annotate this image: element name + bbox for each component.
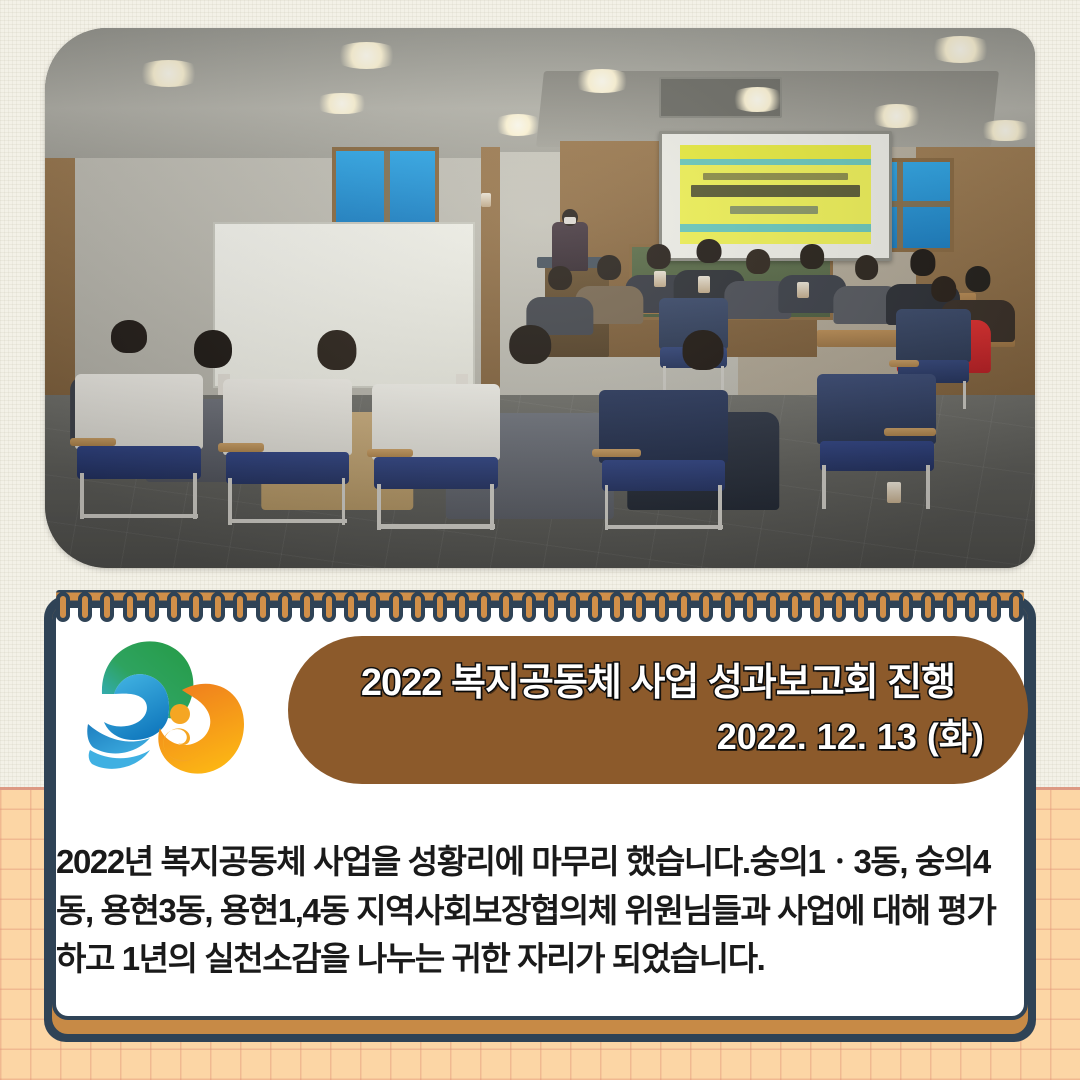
welfare-community-logo: [72, 628, 272, 808]
photo-color-grade: [45, 28, 1035, 568]
spiral-ring: [876, 592, 890, 622]
spiral-ring: [123, 592, 137, 622]
spiral-ring: [56, 592, 70, 622]
spiral-ring: [78, 592, 92, 622]
notepad-spiral-rings: [56, 592, 1024, 626]
spiral-ring: [522, 592, 536, 622]
spiral-ring: [566, 592, 580, 622]
spiral-ring: [211, 592, 225, 622]
event-date: 2022. 12. 13 (화): [332, 717, 984, 757]
spiral-ring: [943, 592, 957, 622]
spiral-ring: [743, 592, 757, 622]
spiral-ring: [256, 592, 270, 622]
spiral-ring: [832, 592, 846, 622]
spiral-ring: [300, 592, 314, 622]
spiral-ring: [544, 592, 558, 622]
spiral-ring: [499, 592, 513, 622]
spiral-ring: [766, 592, 780, 622]
spiral-ring: [344, 592, 358, 622]
spiral-ring: [699, 592, 713, 622]
body-paragraph: 2022년 복지공동체 사업을 성황리에 마무리 했습니다.숭의1ㆍ3동, 숭의…: [56, 838, 1024, 984]
spiral-ring: [721, 592, 735, 622]
spiral-ring: [987, 592, 1001, 622]
spiral-ring: [965, 592, 979, 622]
spiral-ring: [854, 592, 868, 622]
spiral-ring: [389, 592, 403, 622]
spiral-ring: [433, 592, 447, 622]
spiral-ring: [322, 592, 336, 622]
spiral-ring: [788, 592, 802, 622]
spiral-ring: [655, 592, 669, 622]
spiral-ring: [366, 592, 380, 622]
event-photo: [45, 28, 1035, 568]
spiral-ring: [411, 592, 425, 622]
spiral-ring: [632, 592, 646, 622]
spiral-ring: [233, 592, 247, 622]
spiral-ring: [1009, 592, 1023, 622]
spiral-ring: [477, 592, 491, 622]
spiral-ring: [167, 592, 181, 622]
spiral-ring: [921, 592, 935, 622]
spiral-ring: [278, 592, 292, 622]
header-banner: 2022 복지공동체 사업 성과보고회 진행 2022. 12. 13 (화): [288, 636, 1028, 784]
spiral-ring: [899, 592, 913, 622]
page-title: 2022 복지공동체 사업 성과보고회 진행: [332, 663, 984, 705]
spiral-ring: [145, 592, 159, 622]
social-card: 2022 복지공동체 사업 성과보고회 진행 2022. 12. 13 (화) …: [0, 0, 1080, 1080]
spiral-ring: [189, 592, 203, 622]
spiral-ring: [100, 592, 114, 622]
spiral-ring: [588, 592, 602, 622]
spiral-ring: [455, 592, 469, 622]
spiral-ring: [677, 592, 691, 622]
spiral-ring: [610, 592, 624, 622]
spiral-ring: [810, 592, 824, 622]
